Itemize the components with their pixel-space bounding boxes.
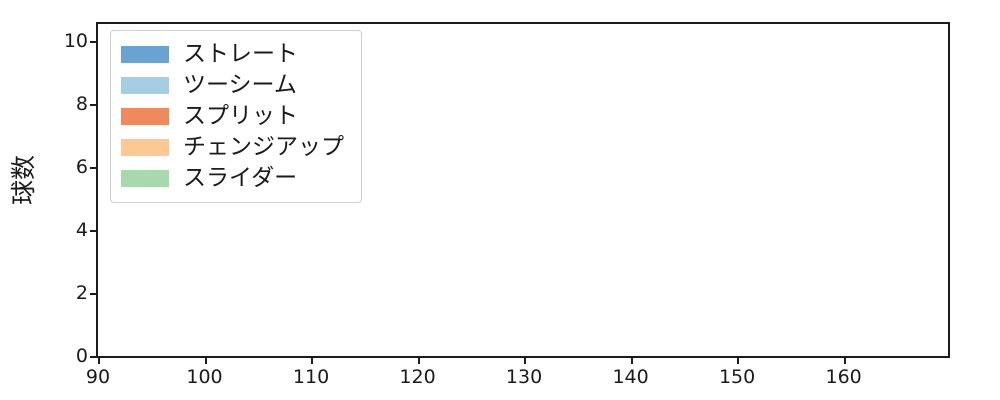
x-axis-tick-label: 150 bbox=[719, 366, 755, 388]
x-axis-tick bbox=[311, 358, 313, 364]
legend-label: チェンジアップ bbox=[183, 136, 344, 159]
legend-label: ストレート bbox=[183, 43, 298, 66]
x-axis-tick-label: 140 bbox=[612, 366, 648, 388]
x-axis-tick bbox=[737, 358, 739, 364]
legend-swatch bbox=[121, 46, 169, 63]
legend-swatch bbox=[121, 108, 169, 125]
legend-swatch bbox=[121, 170, 169, 187]
x-axis-tick bbox=[205, 358, 207, 364]
legend-item: チェンジアップ bbox=[121, 132, 351, 163]
chart-canvas: 球数 901001101201301401501600246810 ストレートツ… bbox=[0, 0, 1000, 400]
y-axis-tick-label: 10 bbox=[0, 30, 102, 52]
x-axis-tick bbox=[631, 358, 633, 364]
y-axis-tick-label: 6 bbox=[0, 156, 102, 178]
x-axis-tick bbox=[524, 358, 526, 364]
x-axis-tick-label: 110 bbox=[293, 366, 329, 388]
x-axis-tick-label: 100 bbox=[186, 366, 222, 388]
x-axis-tick-label: 130 bbox=[506, 366, 542, 388]
legend-item: ツーシーム bbox=[121, 70, 351, 101]
legend: ストレートツーシームスプリットチェンジアップスライダー bbox=[110, 30, 362, 203]
legend-label: ツーシーム bbox=[183, 74, 297, 97]
legend-item: スプリット bbox=[121, 101, 351, 132]
legend-swatch bbox=[121, 77, 169, 94]
x-axis-tick-label: 90 bbox=[86, 366, 110, 388]
x-axis-tick-label: 120 bbox=[399, 366, 435, 388]
y-axis-tick-label: 4 bbox=[0, 219, 102, 241]
legend-label: スライダー bbox=[183, 167, 297, 190]
y-axis-tick-label: 0 bbox=[0, 345, 102, 367]
legend-item: ストレート bbox=[121, 39, 351, 70]
y-axis-tick-label: 2 bbox=[0, 282, 102, 304]
x-axis-tick bbox=[418, 358, 420, 364]
legend-item: スライダー bbox=[121, 163, 351, 194]
legend-label: スプリット bbox=[183, 105, 298, 128]
y-axis-tick-label: 8 bbox=[0, 93, 102, 115]
legend-swatch bbox=[121, 139, 169, 156]
x-axis-tick bbox=[844, 358, 846, 364]
x-axis-tick-label: 160 bbox=[825, 366, 861, 388]
